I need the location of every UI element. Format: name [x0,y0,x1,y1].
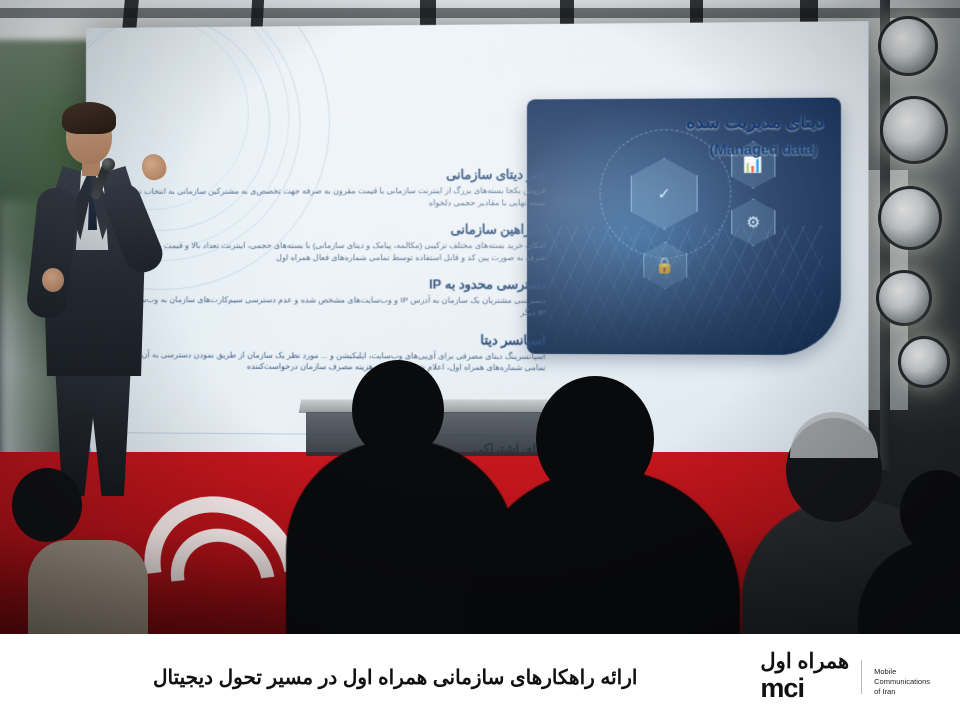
microphone-head [102,158,115,171]
slide-item-body: دسترسی مشتریان یک سازمان به آدرس IP و وب… [112,294,546,318]
stage-light [876,270,932,326]
audience-head [352,360,444,460]
brand-tagline: Mobile Communications of Iran [874,667,930,697]
slide-item-body: اسپانسرینگ دیتای مصرفی برای آی‌پی‌های وب… [112,349,546,374]
brand-wordmark: همراه اول mci [760,651,849,702]
caption-headline: ارائه راهکارهای سازمانی همراه اول در مسی… [0,665,760,690]
brand-tagline-line2: Communications [874,677,930,687]
slide-managed-data-title-fa: دیتای مدیریت شده [686,112,824,133]
slide-item-title: اسپانسر دیتا [112,331,546,348]
slide-bullet-list: ☂ چتر دیتای سازمانی فروش یکجا بسته‌های ب… [112,167,550,388]
slide-list-item: 💰 اسپانسر دیتا اسپانسرینگ دیتای مصرفی بر… [112,331,550,374]
presenter-person [30,108,170,488]
brand-divider [861,660,862,694]
slide-managed-data-title-en: (Managed data) [710,141,818,158]
brand-tagline-line1: Mobile [874,667,930,677]
brand-name-fa: همراه اول [760,651,849,673]
slide-item-body: فروش یکجا بسته‌های بزرگ از اینترنت سازما… [112,185,546,209]
caption-bar: ارائه راهکارهای سازمانی همراه اول در مسی… [0,634,960,720]
slide-item-body: امکان خرید بسته‌های مختلف ترکیبی (مکالمه… [112,240,546,264]
slide-item-title: چتر دیتای سازمانی [112,167,546,183]
slide-item-title: دسترسی محدود به IP [112,276,546,292]
stage-light [878,16,938,76]
event-photo-screenshot: ✓ 📊 ⚙ 🔒 دیتای مدیریت شده (Managed data) … [0,0,960,720]
lock-shield-icon: 🔒 [643,242,687,289]
audience-head [12,468,82,542]
photograph: ✓ 📊 ⚙ 🔒 دیتای مدیریت شده (Managed data) … [0,0,960,634]
brand-name-en: mci [760,674,849,702]
slide-item-title: همراهین سازمانی [112,222,546,237]
mci-brand-logo: همراه اول mci Mobile Communications of I… [760,651,934,702]
audience-shirt [28,540,148,634]
presenter-hair [62,102,116,134]
audience-head [536,376,654,502]
stage-light [898,336,950,388]
slide-list-item: 🌐 دسترسی محدود به IP دسترسی مشتریان یک س… [112,276,550,318]
slide-hero-graphic: ✓ 📊 ⚙ 🔒 [527,98,841,356]
presenter-hand-right [139,151,170,183]
presenter-hand-left [42,268,64,292]
slide-list-item: ☂ چتر دیتای سازمانی فروش یکجا بسته‌های ب… [112,167,550,210]
circuit-pattern [546,225,823,349]
stage-light [878,186,942,250]
brand-tagline-line3: of Iran [874,687,930,697]
settings-gear-icon: ⚙ [731,199,775,246]
slide-list-item: 🤝 همراهین سازمانی امکان خرید بسته‌های مخ… [112,222,550,264]
stage-light [880,96,948,164]
